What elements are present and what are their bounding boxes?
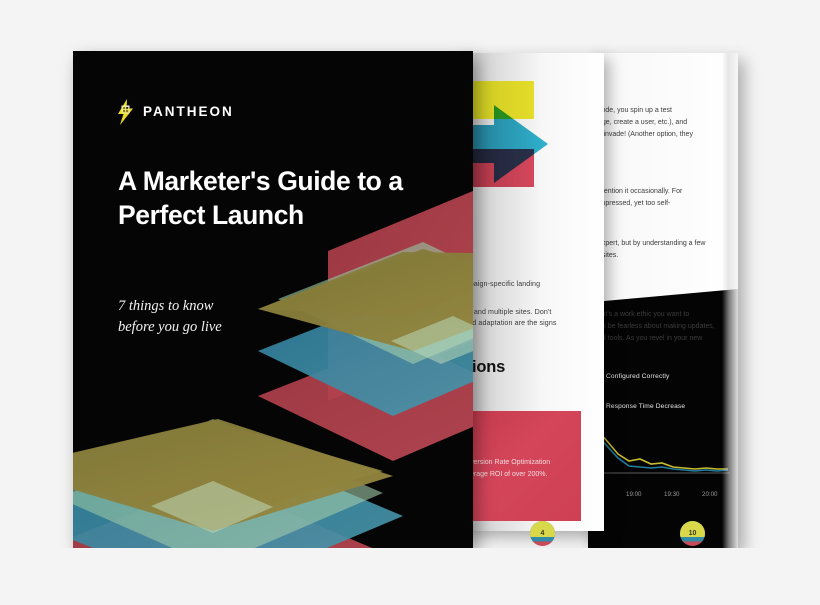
chart-plot-area [588,421,738,481]
cover-subtitle: 7 things to know before you go live [118,296,378,338]
right-body-line-8: t, it's a work ethic you want to [598,309,689,321]
chart-xtick-2000: 20:00 [702,491,717,498]
right-body-line-2: age, create a user, etc.), and [598,117,687,129]
pantheon-logo[interactable]: PANTHEON [117,99,234,125]
right-body-line-3: s invade! (Another option, they [598,129,693,141]
cover-subtitle-line-1: 7 things to know [118,296,378,317]
middle-page-content: campaign-specific landing ages and multi… [456,53,604,531]
legend-label-response-time-decrease: Response Time Decrease [606,403,685,410]
page-badge-10[interactable]: 10 [680,521,705,546]
cover-subtitle-line-2: before you go live [118,317,378,338]
right-body-line-10: nd tools. As you revel in your new [598,333,702,345]
right-body-line-4: mention it occasionally. For [598,186,682,198]
badge-label-10: 10 [689,530,697,537]
chart-xtick-1900: 19:00 [626,491,641,498]
ebook-cover[interactable]: PANTHEON A Marketer's Guide to a Perfect… [73,51,473,548]
right-body-line-6: expert, but by understanding a few [598,238,705,250]
pantheon-wordmark: PANTHEON [143,105,234,119]
series-line-configured-correctly [596,429,728,469]
middle-page[interactable]: campaign-specific landing ages and multi… [456,53,604,531]
page-badge-4[interactable]: 4 [530,521,555,546]
right-page-content: code, you spin up a test age, create a u… [588,53,738,548]
right-body-line-1: code, you spin up a test [598,105,672,117]
screenshot-canvas: code, you spin up a test age, create a u… [0,0,820,605]
right-page[interactable]: code, you spin up a test age, create a u… [588,53,738,548]
callout-line-2: erage ROI of over 200%. [470,469,547,481]
metrics-chart[interactable]: Configured Correctly Response Time Decre… [588,353,738,548]
right-body-line-5: impressed, yet too self- [598,198,670,210]
cover-title: A Marketer's Guide to a Perfect Launch [118,164,418,233]
chart-xtick-1930: 19:30 [664,491,679,498]
red-callout-box: version Rate Optimization erage ROI of o… [456,411,581,521]
callout-line-1: version Rate Optimization [470,457,550,469]
right-body-line-9: an be fearless about making updates, [598,321,715,333]
legend-label-configured-correctly: Configured Correctly [606,373,669,380]
legend-item-response-time-decrease[interactable]: Response Time Decrease [592,403,685,410]
lightning-bolt-icon [117,99,134,125]
bottom-background-mask [0,548,820,605]
badge-label-4: 4 [541,530,545,537]
